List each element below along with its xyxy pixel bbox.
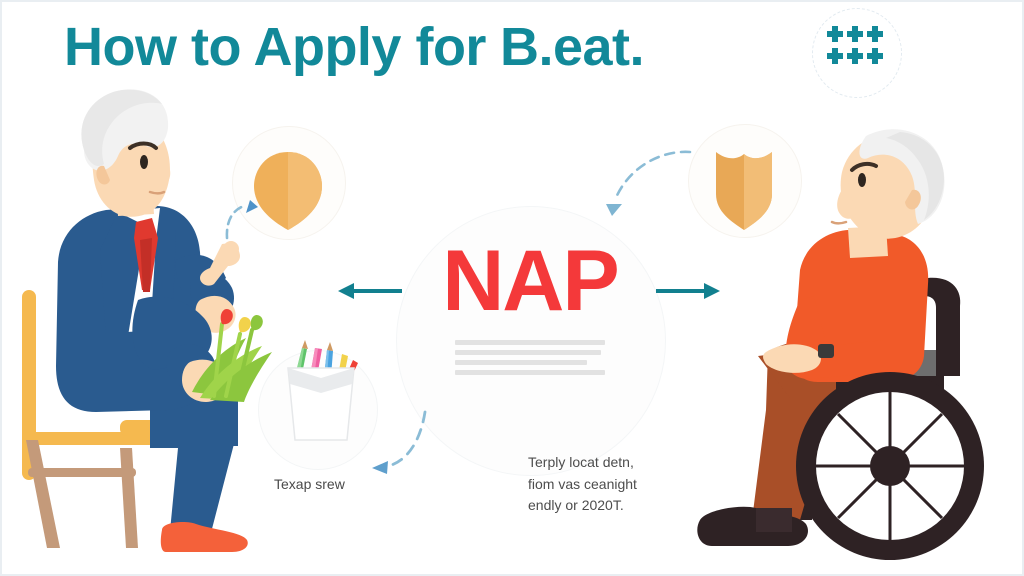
dashed-arrow-head-left-finger [246,200,258,213]
placeholder-line [455,350,601,355]
center-caption-line-1: Terply locat detn, [528,452,637,474]
pencils-caption: Texap srew [274,476,345,492]
arrow-left-icon [338,283,402,299]
placeholder-line [455,360,587,365]
infographic-canvas: How to Apply forB.eat. [0,0,1024,576]
dashed-arrow-head-bottom-left [372,461,388,474]
arrow-right-icon [656,283,720,299]
dashed-curve-arrow-top-right [615,152,690,200]
dashed-arrow-head-top-right [606,204,622,216]
center-caption-line-2: fiom vas ceanight [528,474,637,496]
arrow-left-bar [352,289,402,293]
center-caption-line-3: endly or 2020T. [528,495,637,517]
pencil-cup-icon [288,340,358,440]
placeholder-line [455,370,605,375]
arrow-right-head [704,283,720,299]
title-main-text: How to Apply for [64,17,486,77]
dashed-curve-arrow-bottom-left [388,412,425,466]
nap-acronym: NAP [396,238,664,324]
placeholder-line [455,340,605,345]
dot-plus-grid-icon [827,26,883,70]
page-title: How to Apply forB.eat. [64,16,644,78]
dashed-curve-arrow-left-finger [227,206,244,238]
title-brand-text: B.eat. [500,17,644,77]
arrow-right-bar [656,289,706,293]
orange-pin-icon [254,152,322,230]
nap-placeholder-lines [455,340,605,380]
shield-icon [716,152,772,230]
center-caption: Terply locat detn, fiom vas ceanight end… [528,452,637,517]
